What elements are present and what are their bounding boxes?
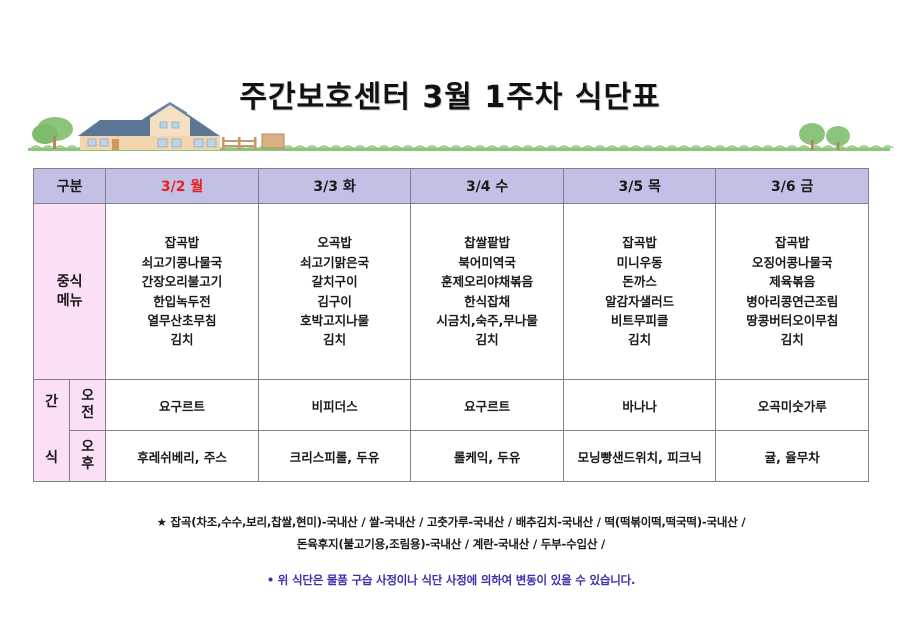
dish: 간장오리불고기 xyxy=(106,272,258,291)
snack-afternoon-wed: 롤케익, 두유 xyxy=(411,431,564,482)
dish: 잡곡밥 xyxy=(106,233,258,252)
header-day-thu: 3/5 목 xyxy=(563,169,716,204)
snack-afternoon-fri: 귤, 율무차 xyxy=(716,431,869,482)
rowlabel-snack-morning-text: 오전 xyxy=(81,388,95,423)
dish: 한식잡채 xyxy=(411,292,563,311)
snack-afternoon-mon: 후레쉬베리, 주스 xyxy=(106,431,259,482)
grass-strip-icon xyxy=(28,145,894,151)
dish: 갈치구이 xyxy=(259,272,411,291)
weekly-meal-table: 구분 3/2 월 3/3 화 3/4 수 3/5 목 3/6 금 중식 메뉴 잡… xyxy=(33,168,869,482)
table-header-row: 구분 3/2 월 3/3 화 3/4 수 3/5 목 3/6 금 xyxy=(34,169,869,204)
dish: 시금치,숙주,무나물 xyxy=(411,311,563,330)
rowlabel-lunch-line1: 중식 xyxy=(57,274,83,290)
rowlabel-lunch-line2: 메뉴 xyxy=(57,293,83,309)
origin-note-line-2: 돈육후지(불고기용,조림용)-국내산 / 계란-국내산 / 두부-수입산 / xyxy=(33,534,869,556)
dish: 쇠고기콩나물국 xyxy=(106,253,258,272)
dish: 제육볶음 xyxy=(716,272,868,291)
tree-icon xyxy=(32,117,73,149)
snack-morning-row: 간 식 오전 요구르트 비피더스 요구르트 바나나 오곡미숫가루 xyxy=(34,380,869,431)
snack-afternoon-row: 오후 후레쉬베리, 주스 크리스피롤, 두유 롤케익, 두유 모닝빵샌드위치, … xyxy=(34,431,869,482)
snack-afternoon-tue: 크리스피롤, 두유 xyxy=(258,431,411,482)
lunch-cell-fri: 잡곡밥 오징어콩나물국 제육볶음 병아리콩연근조림 땅콩버터오이무침 김치 xyxy=(716,204,869,380)
header-day-fri: 3/6 금 xyxy=(716,169,869,204)
page-title: 주간보호센터 3월 1주차 식단표 xyxy=(0,72,900,116)
dish: 열무산초무침 xyxy=(106,311,258,330)
dish: 김치 xyxy=(564,330,716,349)
dish: 미니우동 xyxy=(564,253,716,272)
rowlabel-snack: 간 식 xyxy=(34,380,70,482)
dish: 병아리콩연근조림 xyxy=(716,292,868,311)
dish: 한입녹두전 xyxy=(106,292,258,311)
dish: 오곡밥 xyxy=(259,233,411,252)
dish: 오징어콩나물국 xyxy=(716,253,868,272)
dish: 호박고지나물 xyxy=(259,311,411,330)
rowlabel-snack-morning: 오전 xyxy=(70,380,106,431)
dish: 비트무피클 xyxy=(564,311,716,330)
lunch-cell-mon: 잡곡밥 쇠고기콩나물국 간장오리불고기 한입녹두전 열무산초무침 김치 xyxy=(106,204,259,380)
header-day-tue: 3/3 화 xyxy=(258,169,411,204)
rowlabel-snack-afternoon: 오후 xyxy=(70,431,106,482)
rowlabel-lunch: 중식 메뉴 xyxy=(34,204,106,380)
dish: 훈제오리야채볶음 xyxy=(411,272,563,291)
dish: 잡곡밥 xyxy=(716,233,868,252)
dish: 김치 xyxy=(716,330,868,349)
lunch-cell-wed: 찹쌀팥밥 북어미역국 훈제오리야채볶음 한식잡채 시금치,숙주,무나물 김치 xyxy=(411,204,564,380)
snack-morning-fri: 오곡미숫가루 xyxy=(716,380,869,431)
dish: 김치 xyxy=(106,330,258,349)
rowlabel-snack-line1: 간 xyxy=(45,394,58,410)
disclaimer-note: • 위 식단은 물품 구습 사정이나 식단 사정에 의하여 변동이 있을 수 있… xyxy=(33,572,869,588)
dish: 김치 xyxy=(411,330,563,349)
header-day-wed: 3/4 수 xyxy=(411,169,564,204)
dish: 김구이 xyxy=(259,292,411,311)
snack-morning-tue: 비피더스 xyxy=(258,380,411,431)
dish: 잡곡밥 xyxy=(564,233,716,252)
header-band: 주간보호센터 3월 1주차 식단표 xyxy=(0,0,900,160)
tree-icon xyxy=(799,123,850,150)
dish: 땅콩버터오이무침 xyxy=(716,311,868,330)
footnotes: ★ 잡곡(차조,수수,보리,찹쌀,현미)-국내산 / 쌀-국내산 / 고춧가루-… xyxy=(33,512,869,588)
rowlabel-snack-line2: 식 xyxy=(45,450,58,466)
dish: 돈까스 xyxy=(564,272,716,291)
lunch-cell-thu: 잡곡밥 미니우동 돈까스 알감자샐러드 비트무피클 김치 xyxy=(563,204,716,380)
header-gubun: 구분 xyxy=(34,169,106,204)
snack-morning-wed: 요구르트 xyxy=(411,380,564,431)
dish: 알감자샐러드 xyxy=(564,292,716,311)
dish: 북어미역국 xyxy=(411,253,563,272)
header-day-mon: 3/2 월 xyxy=(106,169,259,204)
lunch-row: 중식 메뉴 잡곡밥 쇠고기콩나물국 간장오리불고기 한입녹두전 열무산초무침 김… xyxy=(34,204,869,380)
menu-table-container: 구분 3/2 월 3/3 화 3/4 수 3/5 목 3/6 금 중식 메뉴 잡… xyxy=(33,168,869,482)
snack-morning-thu: 바나나 xyxy=(563,380,716,431)
fence-icon xyxy=(222,134,284,150)
snack-morning-mon: 요구르트 xyxy=(106,380,259,431)
rowlabel-snack-afternoon-text: 오후 xyxy=(81,439,95,474)
dish: 쇠고기맑은국 xyxy=(259,253,411,272)
dish: 찹쌀팥밥 xyxy=(411,233,563,252)
origin-note-line-1: ★ 잡곡(차조,수수,보리,찹쌀,현미)-국내산 / 쌀-국내산 / 고춧가루-… xyxy=(33,512,869,534)
lunch-cell-tue: 오곡밥 쇠고기맑은국 갈치구이 김구이 호박고지나물 김치 xyxy=(258,204,411,380)
dish: 김치 xyxy=(259,330,411,349)
snack-afternoon-thu: 모닝빵샌드위치, 피크닉 xyxy=(563,431,716,482)
